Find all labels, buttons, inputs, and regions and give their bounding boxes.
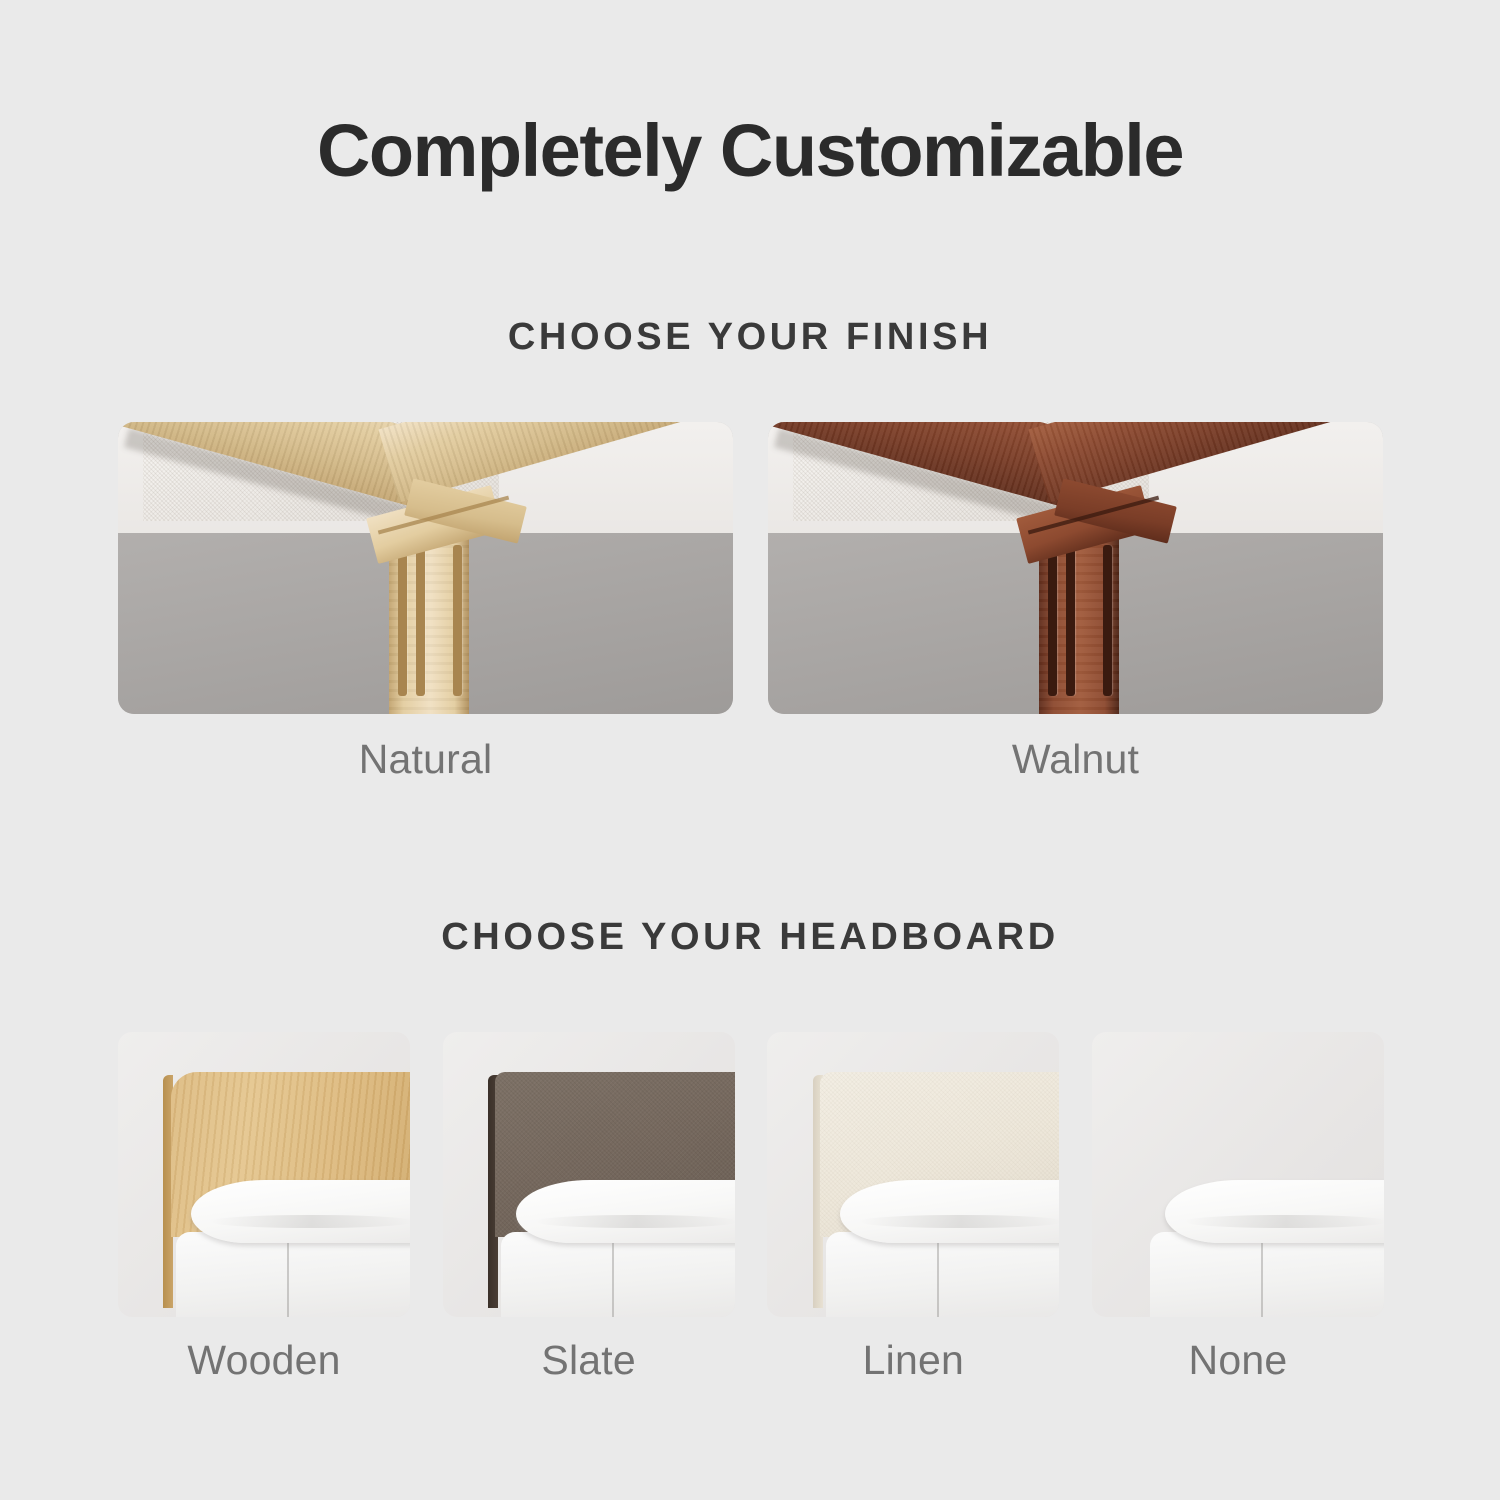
finish-label-walnut: Walnut [768,736,1383,783]
finish-option-natural[interactable]: Natural [118,422,733,783]
joint-groove [1066,545,1075,697]
mattress-seam [937,1243,939,1317]
headboard-label-none: None [1092,1337,1384,1384]
headboard-option-none[interactable]: None [1092,1032,1384,1384]
finish-label-natural: Natural [118,736,733,783]
finish-option-walnut[interactable]: Walnut [768,422,1383,783]
product-customization-infographic: Completely Customizable CHOOSE YOUR FINI… [0,0,1500,1500]
headboard-option-slate[interactable]: Slate [443,1032,735,1384]
bed-mattress [826,1232,1060,1318]
section-title-finish: CHOOSE YOUR FINISH [0,316,1500,359]
joint-groove [453,545,462,697]
headboard-label-linen: Linen [767,1337,1059,1384]
headboard-image-slate[interactable] [443,1032,735,1317]
mattress-seam [287,1243,289,1317]
joint-groove [1103,545,1112,697]
joint-groove [1048,545,1057,697]
mattress-seam [612,1243,614,1317]
bed-mattress [176,1232,410,1318]
finish-options-row: Natural Walnut [118,422,1383,783]
headboard-label-slate: Slate [443,1337,735,1384]
headboard-option-linen[interactable]: Linen [767,1032,1059,1384]
joint-groove [416,545,425,697]
joint-groove [398,545,407,697]
headboard-image-linen[interactable] [767,1032,1059,1317]
headboard-option-wooden[interactable]: Wooden [118,1032,410,1384]
finish-image-walnut[interactable] [768,422,1383,714]
finish-image-natural[interactable] [118,422,733,714]
headboard-image-wooden[interactable] [118,1032,410,1317]
bed-pillow [840,1180,1059,1243]
bed-mattress [501,1232,735,1318]
bed-mattress [1150,1232,1384,1318]
mattress-seam [1261,1243,1263,1317]
bed-pillow [191,1180,410,1243]
headboard-image-none[interactable] [1092,1032,1384,1317]
headboard-label-wooden: Wooden [118,1337,410,1384]
section-title-headboard: CHOOSE YOUR HEADBOARD [0,916,1500,959]
bed-pillow [516,1180,735,1243]
bed-pillow [1165,1180,1384,1243]
headboard-options-row: Wooden Slate Linen [118,1032,1384,1384]
page-title: Completely Customizable [0,108,1500,193]
